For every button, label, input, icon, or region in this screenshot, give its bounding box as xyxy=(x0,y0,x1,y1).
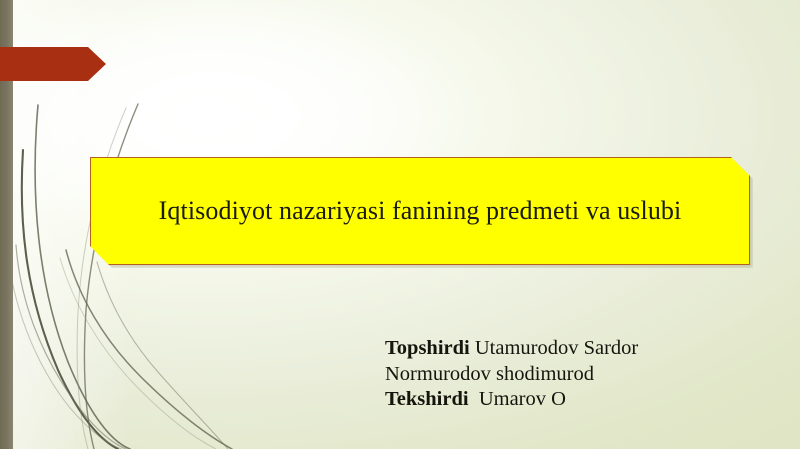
credits-label-topshirdi: Topshirdi xyxy=(385,337,470,359)
credits-label-tekshirdi: Tekshirdi xyxy=(385,388,469,410)
credits-line-submitted-by: Topshirdi Utamurodov Sardor xyxy=(385,336,775,362)
credits-value-tekshirdi: Umarov O xyxy=(469,388,566,410)
presentation-slide: Iqtisodiyot nazariyasi fanining predmeti… xyxy=(0,0,800,449)
red-arrow-banner xyxy=(0,47,106,81)
credits-value-topshirdi: Utamurodov Sardor xyxy=(470,337,639,359)
credits-line-second-author: Normurodov shodimurod xyxy=(385,362,775,388)
credits-line-checked-by: Tekshirdi Umarov O xyxy=(385,387,775,413)
slide-title: Iqtisodiyot nazariyasi fanining predmeti… xyxy=(159,197,682,226)
title-banner: Iqtisodiyot nazariyasi fanining predmeti… xyxy=(90,157,750,265)
credits-block: Topshirdi Utamurodov Sardor Normurodov s… xyxy=(385,336,775,413)
